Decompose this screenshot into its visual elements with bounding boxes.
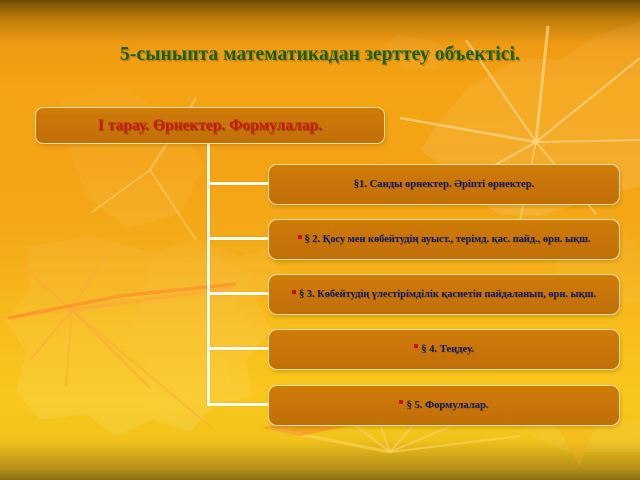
section-node-2-text: § 2. Қосу мен көбейтудің ауыст., терімд.… xyxy=(298,234,591,245)
slide-canvas: 5-сыныпта математикадан зерттеу объектіс… xyxy=(0,0,640,480)
bullet-square-icon xyxy=(292,290,296,294)
connector-branch-5 xyxy=(207,403,269,406)
section-node-3[interactable]: § 3. Көбейтудің үлестірімділік қасиетін … xyxy=(268,274,620,315)
section-node-5-text: § 5. Формулалар. xyxy=(399,400,488,412)
leaf-shape-center-left xyxy=(6,236,282,436)
section-node-2[interactable]: § 2. Қосу мен көбейтудің ауыст., терімд.… xyxy=(268,219,620,260)
bullet-square-icon xyxy=(399,400,403,404)
connector-branch-1 xyxy=(207,182,269,185)
chapter-node-label: I тарау. Өрнектер. Формулалар. xyxy=(98,117,322,134)
connector-branch-4 xyxy=(207,347,269,350)
slide-title: 5-сыныпта математикадан зерттеу объектіс… xyxy=(0,44,640,66)
section-node-1[interactable]: §1. Санды өрнектер. Әріпті өрнектер. xyxy=(268,164,620,205)
connector-branch-3 xyxy=(207,292,269,295)
section-node-4[interactable]: § 4. Теңдеу. xyxy=(268,329,620,370)
bullet-square-icon xyxy=(414,344,418,348)
section-node-4-text: § 4. Теңдеу. xyxy=(414,344,474,356)
section-node-5-label: § 5. Формулалар. xyxy=(406,400,488,412)
section-node-3-label: § 3. Көбейтудің үлестірімділік қасиетін … xyxy=(299,289,596,300)
section-node-3-text: § 3. Көбейтудің үлестірімділік қасиетін … xyxy=(292,289,596,300)
section-node-1-text: §1. Санды өрнектер. Әріпті өрнектер. xyxy=(354,179,535,191)
section-node-2-label: § 2. Қосу мен көбейтудің ауыст., терімд.… xyxy=(305,234,591,245)
connector-branch-2 xyxy=(207,237,269,240)
section-node-5[interactable]: § 5. Формулалар. xyxy=(268,385,620,426)
section-node-1-label: §1. Санды өрнектер. Әріпті өрнектер. xyxy=(354,179,535,191)
leaf-vein-highlight xyxy=(8,284,236,318)
section-node-4-label: § 4. Теңдеу. xyxy=(421,344,474,356)
leaf-veins-center-left xyxy=(0,252,232,428)
chapter-node[interactable]: I тарау. Өрнектер. Формулалар. xyxy=(35,107,385,144)
bullet-square-icon xyxy=(298,235,302,239)
